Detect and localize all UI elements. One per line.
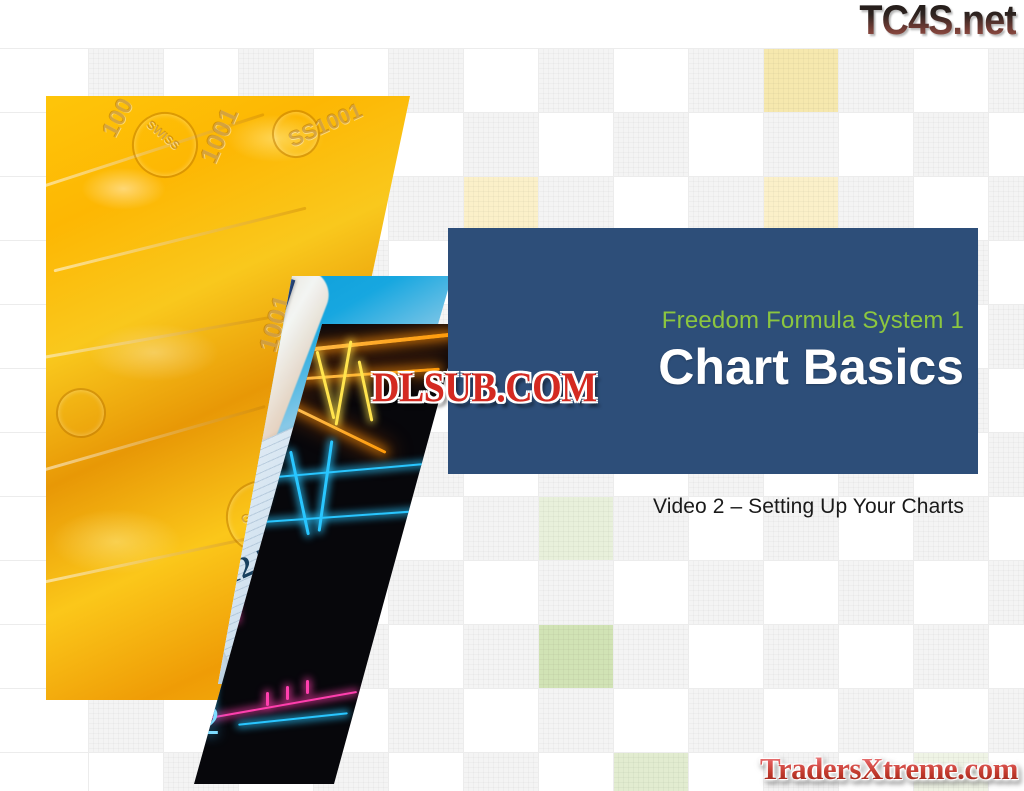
- background-cell: [463, 624, 538, 688]
- background-cell: [688, 560, 763, 624]
- background-cell: [763, 624, 838, 688]
- background-cell: [913, 112, 988, 176]
- grid-line: [988, 48, 989, 791]
- background-cell: [988, 432, 1024, 496]
- slide-subtitle: Video 2 – Setting Up Your Charts: [0, 495, 964, 519]
- background-cell: [838, 560, 913, 624]
- background-cell: [538, 688, 613, 752]
- background-cell: [988, 304, 1024, 368]
- grid-line: [0, 48, 1024, 49]
- background-cell: [463, 112, 538, 176]
- background-cell: [763, 48, 838, 112]
- background-cell: [988, 176, 1024, 240]
- tradersxtreme-logo[interactable]: TradersXtreme.com: [760, 751, 1018, 787]
- background-cell: [538, 624, 613, 688]
- background-cell: [688, 48, 763, 112]
- page-title: Chart Basics: [658, 338, 964, 396]
- background-cell: [988, 48, 1024, 112]
- background-cell: [688, 688, 763, 752]
- gold-mark-1: 1001: [193, 103, 245, 168]
- background-cell: [463, 752, 538, 791]
- background-cell: [838, 688, 913, 752]
- background-cell: [913, 624, 988, 688]
- title-banner: Freedom Formula System 1 Chart Basics: [448, 228, 978, 474]
- background-cell: [538, 48, 613, 112]
- slide-canvas: 100 1001 SS1001 1001 SWISS GOLD +12.7: [0, 0, 1024, 791]
- background-cell: [838, 48, 913, 112]
- tc4s-logo[interactable]: TC4S.net: [859, 0, 1016, 44]
- background-cell: [988, 560, 1024, 624]
- background-cell: [763, 112, 838, 176]
- background-cell: [613, 752, 688, 791]
- banner-text-block: Freedom Formula System 1 Chart Basics: [658, 306, 964, 396]
- background-cell: [538, 560, 613, 624]
- background-cell: [613, 624, 688, 688]
- slide-eyebrow: Freedom Formula System 1: [658, 306, 964, 336]
- background-cell: [988, 688, 1024, 752]
- background-cell: [613, 112, 688, 176]
- gold-mark-2: SS1001: [284, 97, 366, 153]
- dlsub-watermark: DLSUB.COM: [372, 363, 597, 412]
